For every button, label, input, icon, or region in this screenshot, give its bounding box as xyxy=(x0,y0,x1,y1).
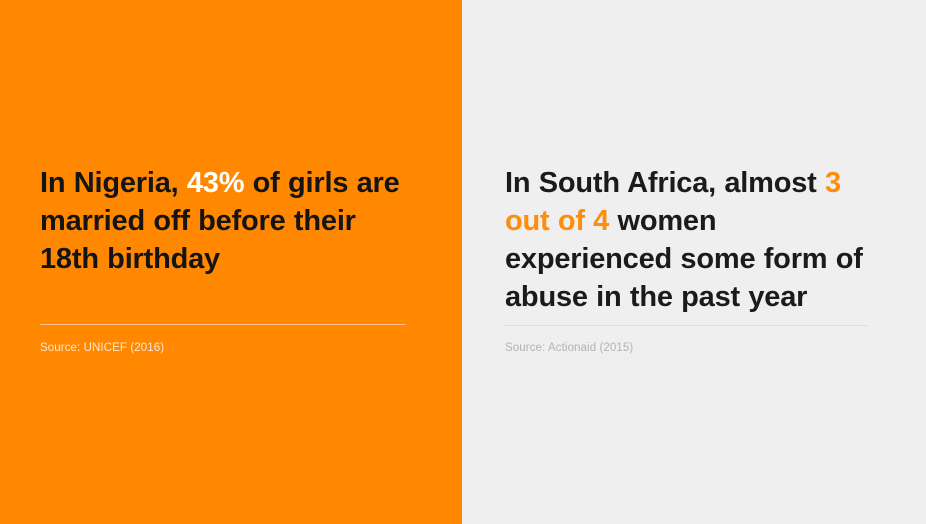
infographic-root: In Nigeria, 43% of girls are married off… xyxy=(0,0,926,524)
headline-statistic-43-percent: 43% xyxy=(187,167,244,199)
headline-segment-lead: In Nigeria, xyxy=(40,167,187,199)
divider-south-africa xyxy=(505,325,867,326)
panel-content-south-africa: In South Africa, almost 3 out of 4 women… xyxy=(505,164,867,316)
headline-south-africa: In South Africa, almost 3 out of 4 women… xyxy=(505,164,867,316)
divider-nigeria xyxy=(40,324,406,325)
source-caption-nigeria: Source: UNICEF (2016) xyxy=(40,341,164,355)
headline-nigeria: In Nigeria, 43% of girls are married off… xyxy=(40,164,406,278)
panel-content-nigeria: In Nigeria, 43% of girls are married off… xyxy=(40,164,406,278)
source-caption-south-africa: Source: Actionaid (2015) xyxy=(505,341,633,355)
headline-segment-lead: In South Africa, almost xyxy=(505,167,825,199)
stat-panel-nigeria: In Nigeria, 43% of girls are married off… xyxy=(0,0,462,524)
stat-panel-south-africa: In South Africa, almost 3 out of 4 women… xyxy=(462,0,926,524)
